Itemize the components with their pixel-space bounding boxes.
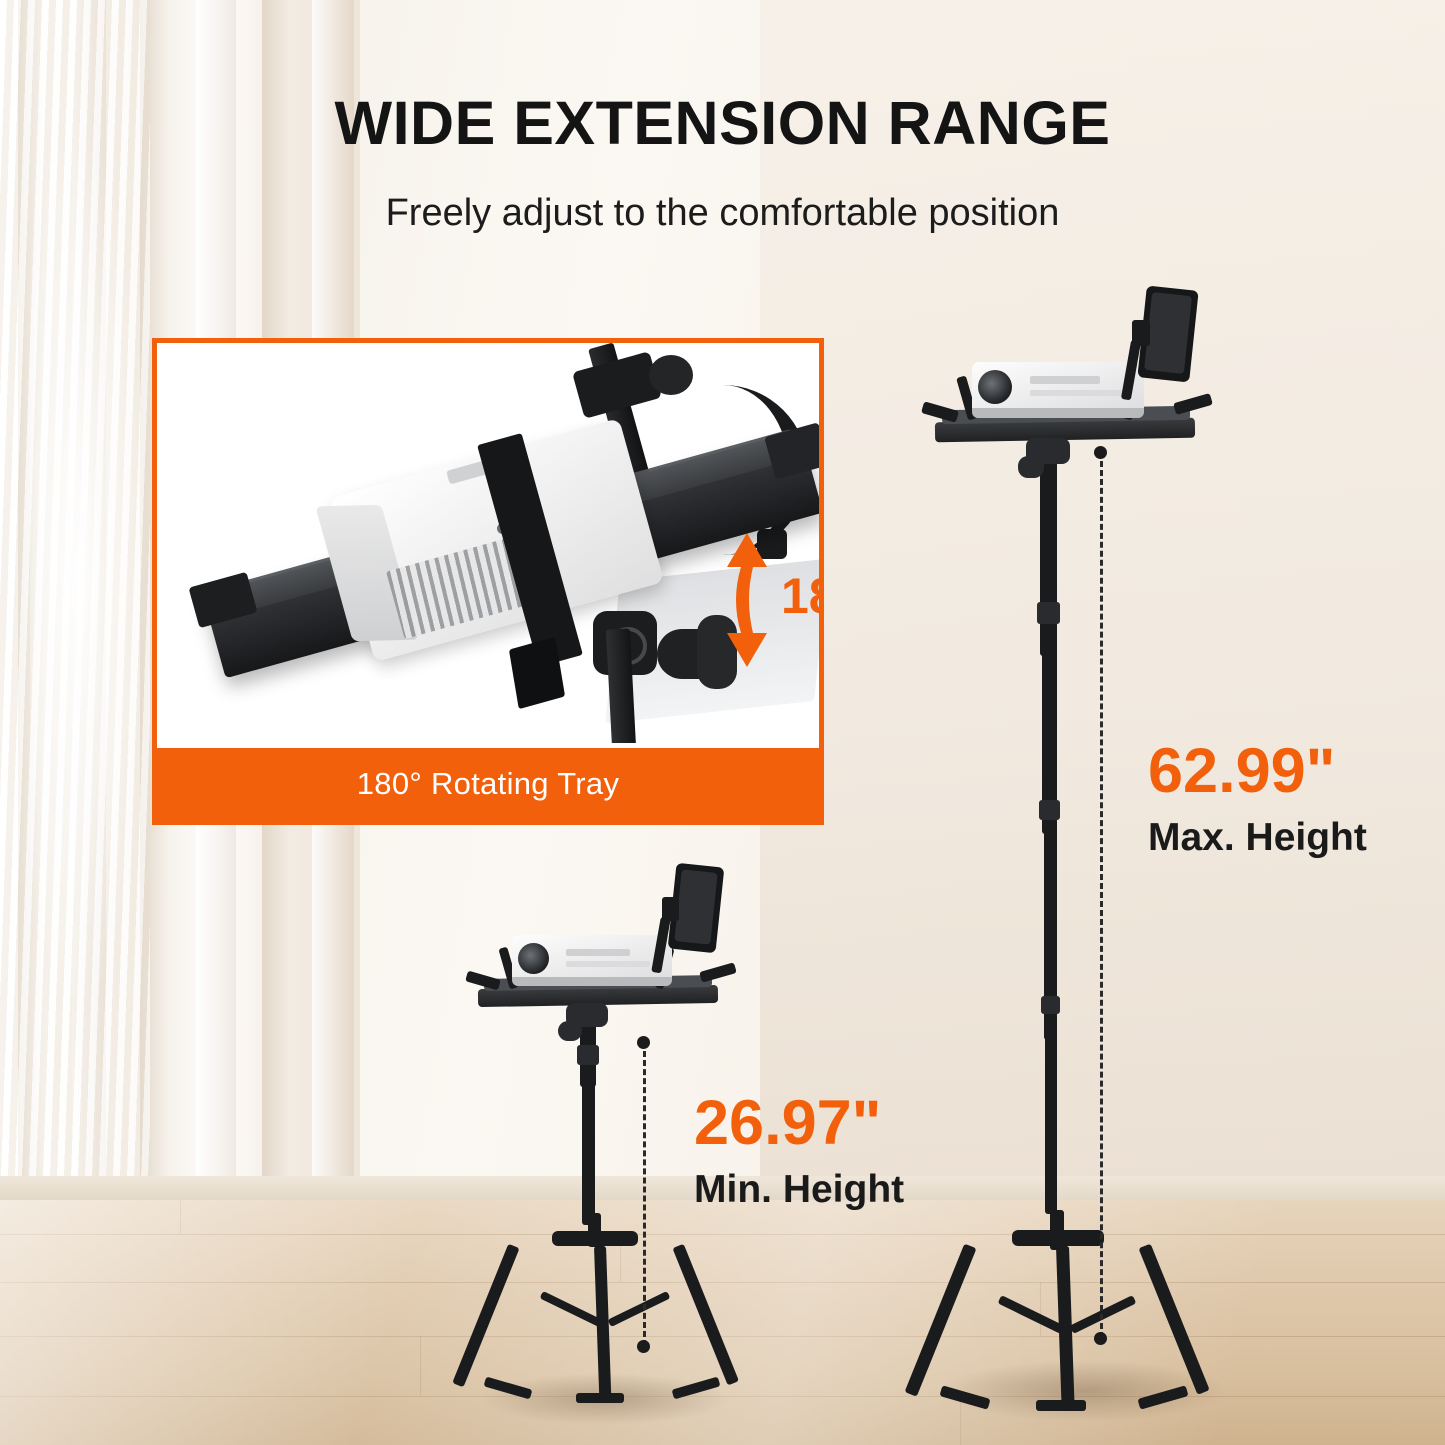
angle-label: 180° [781,567,819,625]
page-subtitle: Freely adjust to the comfortable positio… [0,192,1445,235]
max-height-label: Max. Height [1148,818,1367,857]
measure-dot-max-bottom [1094,1332,1107,1345]
rotation-arrow-icon [713,515,785,685]
measure-dot-max-top [1094,446,1107,459]
min-height-label: Min. Height [694,1170,904,1209]
page-title: WIDE EXTENSION RANGE [0,88,1445,158]
measure-line-max [1100,452,1103,1338]
measure-line-min [643,1042,646,1346]
inset-photo: 180° [157,343,819,743]
product-infographic: WIDE EXTENSION RANGE Freely adjust to th… [0,0,1445,1445]
inset-caption: 180° Rotating Tray [157,748,819,820]
measure-dot-min-top [637,1036,650,1049]
securing-strap-end [509,637,565,709]
rotating-tray-inset-card: 180° 180° Rotating Tray [152,338,824,825]
max-height-value: 62.99" [1148,740,1336,803]
measure-dot-min-bottom [637,1340,650,1353]
min-height-value: 26.97" [694,1092,882,1155]
window-light-glow [30,120,150,1020]
pole-clamp [572,351,662,419]
